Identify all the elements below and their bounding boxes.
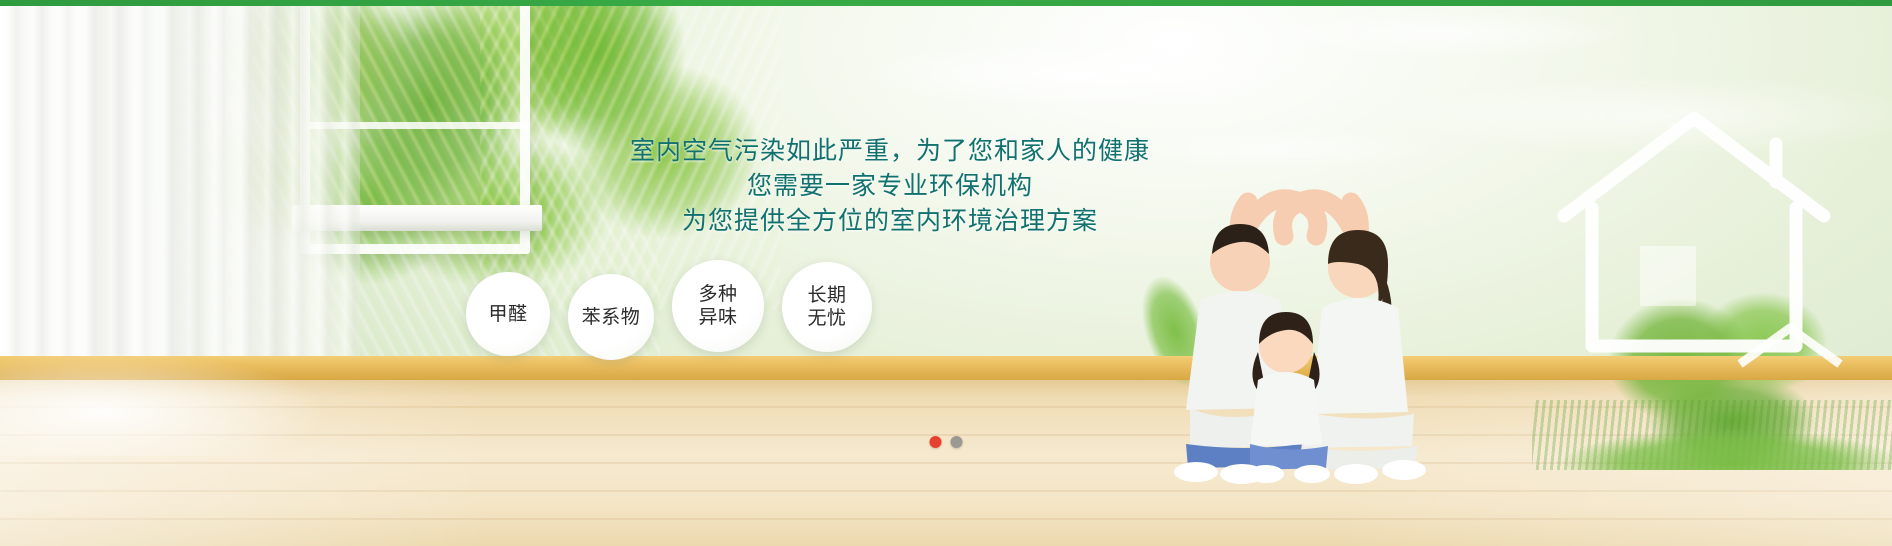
carousel-dot-1[interactable] bbox=[930, 436, 942, 448]
carousel-dot-2[interactable] bbox=[951, 436, 963, 448]
badge-long-term[interactable]: 长期 无忧 bbox=[782, 262, 872, 352]
top-green-bar bbox=[0, 0, 1892, 6]
headline-line-2: 您需要一家专业环保机构 bbox=[600, 169, 1180, 204]
grass-right bbox=[1532, 400, 1892, 470]
hero-banner: 室内空气污染如此严重，为了您和家人的健康 您需要一家专业环保机构 为您提供全方位… bbox=[0, 0, 1892, 546]
headline-block: 室内空气污染如此严重，为了您和家人的健康 您需要一家专业环保机构 为您提供全方位… bbox=[600, 134, 1180, 239]
badge-odors[interactable]: 多种 异味 bbox=[672, 260, 764, 352]
badge-label-line-1: 多种 bbox=[698, 283, 737, 306]
badge-label-line-1: 苯系物 bbox=[582, 306, 641, 329]
carousel-dots[interactable] bbox=[930, 436, 963, 448]
badge-label-line-2: 无忧 bbox=[807, 307, 846, 330]
badge-formaldehyde[interactable]: 甲醛 bbox=[466, 272, 550, 356]
badge-label-line-1: 甲醛 bbox=[488, 303, 527, 326]
house-outline-icon bbox=[1544, 96, 1874, 396]
badge-label-line-1: 长期 bbox=[807, 284, 846, 307]
feature-badge-group: 甲醛 苯系物 多种 异味 长期 无忧 bbox=[466, 272, 872, 360]
curtain-floor-glow bbox=[0, 346, 340, 456]
badge-benzene[interactable]: 苯系物 bbox=[568, 274, 654, 360]
badge-label-line-2: 异味 bbox=[698, 306, 737, 329]
headline-line-3: 为您提供全方位的室内环境治理方案 bbox=[600, 204, 1180, 239]
headline-line-1: 室内空气污染如此严重，为了您和家人的健康 bbox=[600, 134, 1180, 169]
